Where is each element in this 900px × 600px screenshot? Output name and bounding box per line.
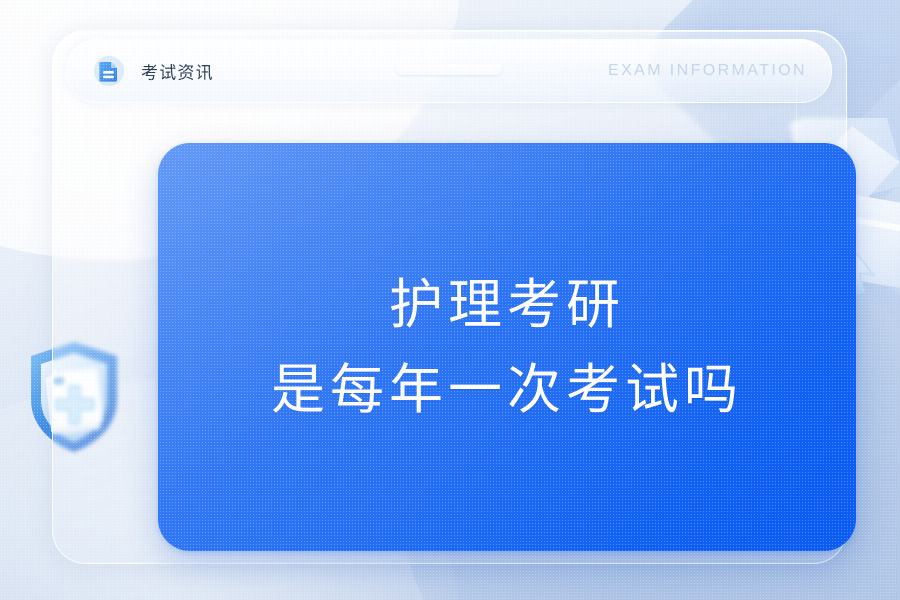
title-line-1: 护理考研 bbox=[389, 262, 625, 347]
outer-glass-card: 考试资讯 EXAM INFORMATION 护理考研 是每年一次考试吗 bbox=[52, 30, 847, 564]
title-line-2: 是每年一次考试吗 bbox=[271, 347, 743, 432]
header-bar: 考试资讯 EXAM INFORMATION bbox=[66, 39, 832, 103]
brand-label: 考试资讯 bbox=[141, 59, 214, 84]
document-icon bbox=[94, 56, 124, 86]
header-notch bbox=[396, 64, 502, 75]
poster-canvas: 考试资讯 EXAM INFORMATION 护理考研 是每年一次考试吗 bbox=[0, 0, 900, 600]
english-subtitle: EXAM INFORMATION bbox=[608, 62, 807, 80]
title-card: 护理考研 是每年一次考试吗 bbox=[158, 143, 856, 551]
